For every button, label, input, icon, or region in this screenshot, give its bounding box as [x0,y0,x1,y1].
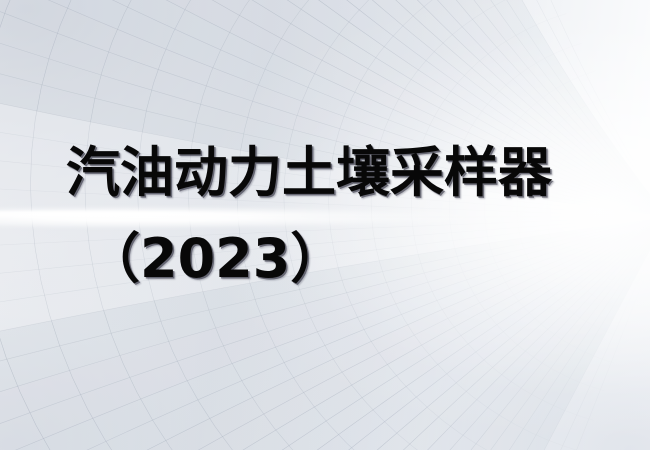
title-text-block: 汽油动力土壤采样器 （2023） [0,0,650,450]
slide-title: 汽油动力土壤采样器 [66,146,552,200]
title-slide: 汽油动力土壤采样器 （2023） [0,0,650,450]
slide-title-year: （2023） [86,232,344,286]
